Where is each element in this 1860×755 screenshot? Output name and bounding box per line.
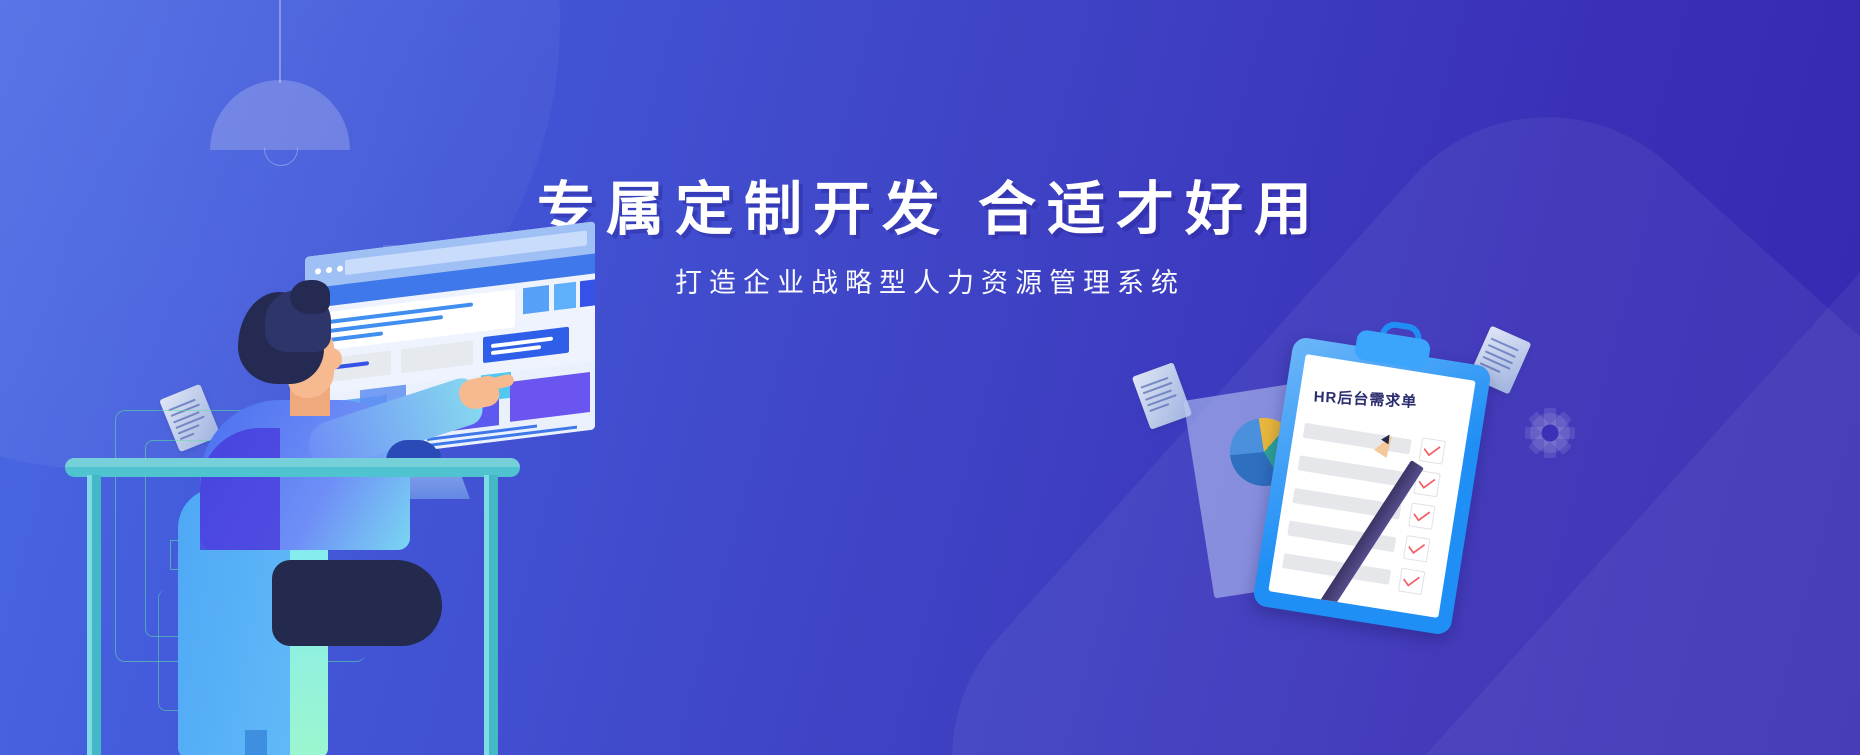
lamp-shade (210, 80, 350, 150)
checkbox-checked[interactable] (1403, 535, 1430, 562)
screen-card (401, 340, 473, 373)
page-title: 专属定制开发 合适才好用 (0, 175, 1860, 245)
person-legs (272, 560, 442, 646)
checklist-row (1303, 423, 1412, 455)
clipboard: HR后台需求单 (1252, 336, 1492, 636)
checkbox-checked[interactable] (1398, 568, 1425, 595)
chair-post (245, 730, 267, 755)
desk-top-highlight (65, 458, 520, 467)
screen-tile (580, 278, 595, 307)
hero-banner: 专属定制开发 合适才好用 打造企业战略型人力资源管理系统 (0, 0, 1860, 755)
desk-leg-left-highlight (87, 475, 92, 755)
checkbox-checked[interactable] (1408, 502, 1435, 529)
screen-card-active (483, 327, 569, 364)
person-ear (322, 348, 342, 370)
clipboard-title: HR后台需求单 (1313, 386, 1462, 415)
document-icon (1132, 362, 1192, 430)
checkbox-checked[interactable] (1418, 437, 1445, 464)
lamp-cord (279, 0, 281, 83)
screen-tile (554, 282, 576, 311)
hr-clipboard-illustration: HR后台需求单 (1190, 330, 1540, 650)
person-at-desk-illustration (60, 260, 580, 755)
checklist-row (1298, 455, 1407, 487)
pendant-lamp-icon (210, 0, 350, 160)
desk-leg-right-highlight (484, 475, 489, 755)
person-hair-tuft (290, 280, 330, 314)
screen-tile (523, 285, 549, 314)
